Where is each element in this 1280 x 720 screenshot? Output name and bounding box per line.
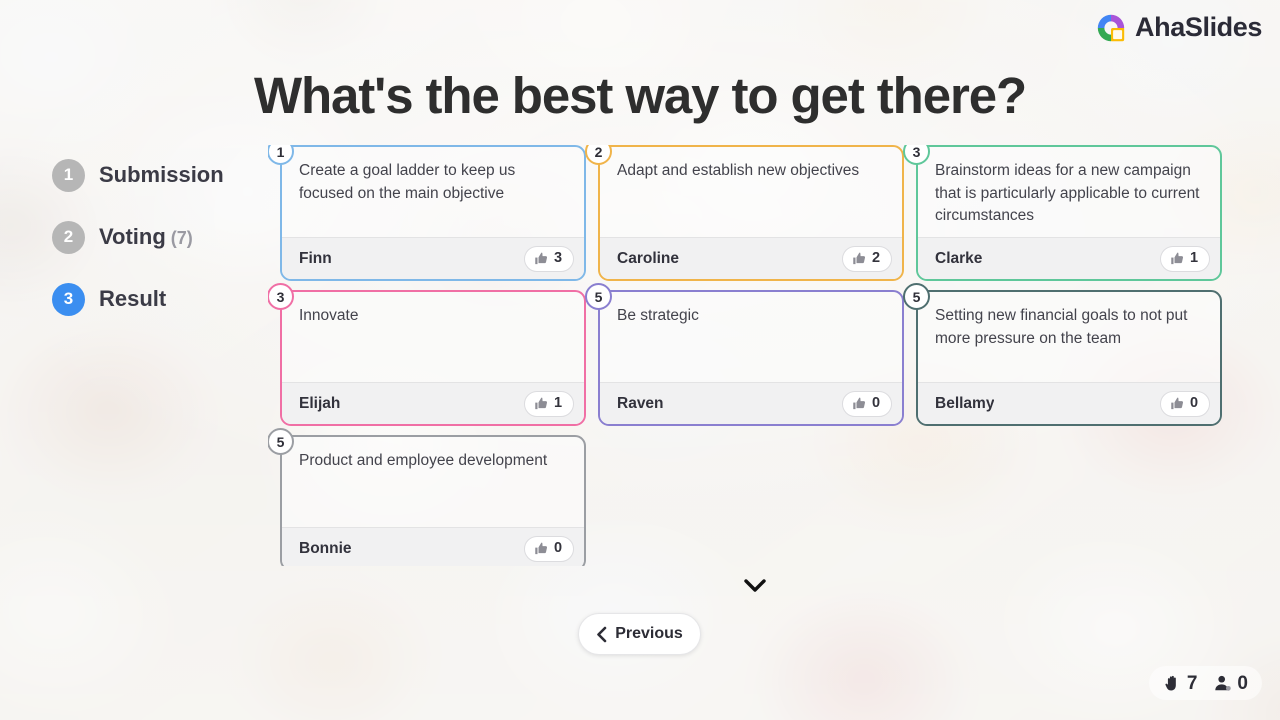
vote-count-value: 0 bbox=[1190, 396, 1198, 411]
raised-hands-value: 7 bbox=[1187, 674, 1198, 693]
idea-card[interactable]: InnovateElijah1 bbox=[280, 290, 586, 426]
idea-card-text: Be strategic bbox=[600, 292, 902, 382]
idea-card-slot: Brainstorm ideas for a new campaign that… bbox=[916, 145, 1222, 281]
idea-rank-badge: 5 bbox=[585, 283, 612, 310]
vote-count-pill[interactable]: 1 bbox=[1160, 246, 1210, 272]
step-number-badge: 1 bbox=[52, 159, 85, 192]
sidebar-item-voting[interactable]: 2 Voting(7) bbox=[52, 217, 267, 257]
steps-sidebar: 1 Submission 2 Voting(7) 3 Result bbox=[52, 155, 267, 341]
idea-card-footer: Bellamy0 bbox=[918, 382, 1220, 424]
idea-card[interactable]: Create a goal ladder to keep us focused … bbox=[280, 145, 586, 281]
step-number-badge: 3 bbox=[52, 283, 85, 316]
idea-rank-badge: 5 bbox=[268, 428, 294, 455]
vote-count-pill[interactable]: 3 bbox=[524, 246, 574, 272]
vote-count-value: 1 bbox=[554, 396, 562, 411]
scroll-down-indicator[interactable] bbox=[741, 572, 769, 600]
vote-count-pill[interactable]: 2 bbox=[842, 246, 892, 272]
step-number-badge: 2 bbox=[52, 221, 85, 254]
thumbs-up-icon bbox=[1170, 396, 1185, 411]
step-label: Submission bbox=[99, 162, 224, 188]
raised-hand-icon bbox=[1163, 674, 1182, 693]
vote-count-value: 0 bbox=[554, 541, 562, 556]
idea-card-footer: Bonnie0 bbox=[282, 527, 584, 566]
vote-count-pill[interactable]: 0 bbox=[842, 391, 892, 417]
idea-card-footer: Caroline2 bbox=[600, 237, 902, 279]
voting-count: (7) bbox=[171, 228, 193, 248]
idea-rank-badge: 5 bbox=[903, 283, 930, 310]
step-label-text: Submission bbox=[99, 162, 224, 187]
idea-card-footer: Clarke1 bbox=[918, 237, 1220, 279]
idea-card-text: Innovate bbox=[282, 292, 584, 382]
page-title: What's the best way to get there? bbox=[0, 66, 1280, 125]
participants-counter: 0 bbox=[1213, 674, 1248, 693]
thumbs-up-icon bbox=[852, 251, 867, 266]
step-label-text: Voting bbox=[99, 224, 166, 249]
idea-card-slot: Setting new financial goals to not put m… bbox=[916, 290, 1222, 426]
vote-count-value: 3 bbox=[554, 251, 562, 266]
previous-button-label: Previous bbox=[615, 625, 683, 643]
thumbs-up-icon bbox=[534, 396, 549, 411]
vote-count-pill[interactable]: 0 bbox=[524, 536, 574, 562]
idea-card-author: Elijah bbox=[299, 395, 340, 413]
idea-card-slot: InnovateElijah13 bbox=[280, 290, 586, 426]
ahaslides-logo: AhaSlides bbox=[1096, 12, 1262, 43]
status-counters: 7 0 bbox=[1149, 666, 1262, 700]
idea-card-footer: Raven0 bbox=[600, 382, 902, 424]
vote-count-value: 2 bbox=[872, 251, 880, 266]
step-label: Result bbox=[99, 286, 166, 312]
idea-card-author: Bellamy bbox=[935, 395, 994, 413]
idea-cards-grid: Create a goal ladder to keep us focused … bbox=[268, 145, 1228, 566]
idea-card-slot: Be strategicRaven05 bbox=[598, 290, 904, 426]
idea-card-footer: Finn3 bbox=[282, 237, 584, 279]
idea-card-author: Finn bbox=[299, 250, 332, 268]
idea-rank-badge: 3 bbox=[268, 283, 294, 310]
idea-card-author: Clarke bbox=[935, 250, 982, 268]
thumbs-up-icon bbox=[534, 251, 549, 266]
previous-button[interactable]: Previous bbox=[578, 613, 701, 655]
brand-name: AhaSlides bbox=[1135, 12, 1262, 43]
idea-card[interactable]: Brainstorm ideas for a new campaign that… bbox=[916, 145, 1222, 281]
idea-card-slot: Create a goal ladder to keep us focused … bbox=[280, 145, 586, 281]
idea-card-author: Raven bbox=[617, 395, 664, 413]
thumbs-up-icon bbox=[1170, 251, 1185, 266]
idea-card-text: Adapt and establish new objectives bbox=[600, 147, 902, 237]
idea-card-text: Product and employee development bbox=[282, 437, 584, 527]
step-label-text: Result bbox=[99, 286, 166, 311]
vote-count-pill[interactable]: 0 bbox=[1160, 391, 1210, 417]
raised-hands-counter: 7 bbox=[1163, 674, 1198, 693]
idea-card-text: Brainstorm ideas for a new campaign that… bbox=[918, 147, 1220, 237]
sidebar-item-result[interactable]: 3 Result bbox=[52, 279, 267, 319]
chevron-left-icon bbox=[596, 626, 607, 643]
idea-card-text: Create a goal ladder to keep us focused … bbox=[282, 147, 584, 237]
chevron-down-icon bbox=[744, 579, 766, 593]
idea-card[interactable]: Product and employee developmentBonnie0 bbox=[280, 435, 586, 566]
idea-card[interactable]: Setting new financial goals to not put m… bbox=[916, 290, 1222, 426]
vote-count-value: 0 bbox=[872, 396, 880, 411]
thumbs-up-icon bbox=[852, 396, 867, 411]
idea-card-author: Bonnie bbox=[299, 540, 352, 558]
idea-card[interactable]: Be strategicRaven0 bbox=[598, 290, 904, 426]
sidebar-item-submission[interactable]: 1 Submission bbox=[52, 155, 267, 195]
vote-count-pill[interactable]: 1 bbox=[524, 391, 574, 417]
participants-value: 0 bbox=[1237, 674, 1248, 693]
person-icon bbox=[1213, 674, 1232, 693]
ahaslides-logo-icon bbox=[1096, 13, 1126, 43]
idea-card-footer: Elijah1 bbox=[282, 382, 584, 424]
idea-card-slot: Product and employee developmentBonnie05 bbox=[280, 435, 586, 566]
thumbs-up-icon bbox=[534, 541, 549, 556]
step-label: Voting(7) bbox=[99, 224, 193, 250]
idea-card[interactable]: Adapt and establish new objectivesCaroli… bbox=[598, 145, 904, 281]
idea-card-slot: Adapt and establish new objectivesCaroli… bbox=[598, 145, 904, 281]
idea-card-text: Setting new financial goals to not put m… bbox=[918, 292, 1220, 382]
vote-count-value: 1 bbox=[1190, 251, 1198, 266]
presentation-stage: AhaSlides What's the best way to get the… bbox=[0, 0, 1280, 720]
idea-card-author: Caroline bbox=[617, 250, 679, 268]
idea-cards-viewport[interactable]: Create a goal ladder to keep us focused … bbox=[268, 145, 1228, 566]
